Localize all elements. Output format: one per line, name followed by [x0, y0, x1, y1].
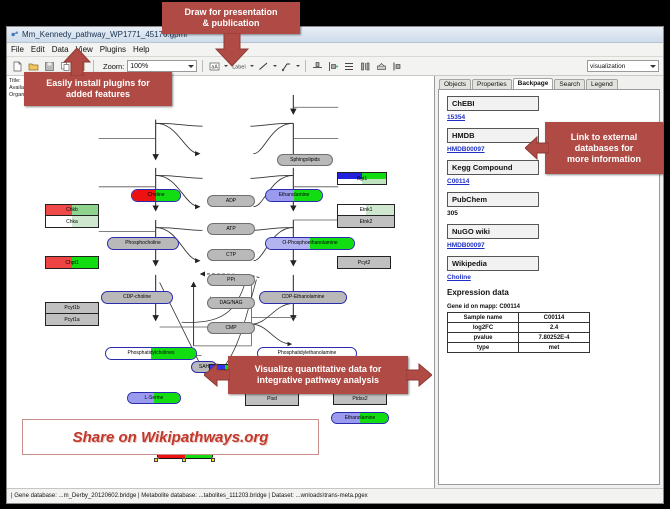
tab-legend[interactable]: Legend [586, 79, 618, 89]
callout-plugins-line1: Easily install plugins for [46, 78, 150, 89]
expr-value: 7.80252E-4 [519, 333, 590, 343]
callout-draw-line2: & publication [203, 18, 260, 29]
node-label: Phosphatidylcholines [128, 351, 175, 356]
status-text: | Gene database: ...m_Derby_20120602.bri… [11, 493, 368, 499]
node-label: DAG/NAG [219, 301, 242, 306]
gene-label: Pcyt1a [64, 317, 79, 323]
chevron-down-icon-6 [650, 65, 656, 68]
menu-item-edit[interactable]: Edit [31, 45, 45, 54]
tab-backpage[interactable]: Backpage [513, 78, 554, 89]
node-o-phosphoethanolamine[interactable]: O-Phosphoethanolamine [265, 237, 355, 250]
node-choline[interactable]: Choline [131, 189, 181, 202]
callout-plugins: Easily install plugins for added feature… [24, 72, 172, 106]
db-link-nugo-wiki[interactable]: HMDB00097 [447, 242, 659, 249]
status-bar: | Gene database: ...m_Derby_20120602.bri… [7, 488, 663, 503]
menu-item-help[interactable]: Help [133, 45, 149, 54]
pathway-info: Title: Availa Organ [9, 78, 24, 99]
info-available: Availa [9, 85, 24, 92]
expr-key: Sample name [448, 313, 519, 323]
resize-handle-s[interactable] [182, 458, 186, 462]
callout-link: Link to external databases for more info… [545, 122, 663, 174]
arrow-shape-icon[interactable] [280, 60, 293, 73]
node-label: CDP-Ethanolamine [282, 295, 325, 300]
callout-link-line3: more information [567, 154, 641, 165]
resize-handle-sw[interactable] [154, 458, 158, 462]
menu-bar: File Edit Data View Plugins Help [7, 43, 663, 57]
node-ctp[interactable]: CTP [207, 249, 255, 261]
chevron-down-icon-5[interactable] [296, 65, 300, 67]
callout-link-line1: Link to external [571, 132, 638, 143]
callout-link-arrow [525, 136, 549, 160]
callout-link-line2: databases for [575, 143, 634, 154]
callout-visualize-arrow-right [406, 363, 432, 387]
node-sphingolipids[interactable]: Sphingolipids [277, 154, 333, 166]
node-phosphocholine[interactable]: Phosphocholine [107, 237, 179, 250]
callout-draw-line1: Draw for presentation [184, 7, 277, 18]
db-link-chebi[interactable]: 15354 [447, 114, 659, 121]
align-icon[interactable] [311, 60, 324, 73]
chevron-down-icon-4[interactable] [273, 65, 277, 67]
app-icon [10, 30, 19, 39]
callout-draw-arrow [215, 33, 249, 67]
gene-label: Etnk1 [360, 207, 373, 213]
node-label: L-Serine [145, 396, 164, 401]
open-icon[interactable] [27, 60, 40, 73]
node-label: ATP [226, 227, 235, 232]
node-atp[interactable]: ATP [207, 223, 255, 235]
info-organism: Organ [9, 92, 24, 99]
new-icon[interactable] [11, 60, 24, 73]
toolbar-divider [93, 60, 94, 72]
gene-pisd[interactable]: Pisd [245, 392, 299, 406]
gene-etnk[interactable]: Etnk1 Etnk2 [337, 204, 395, 228]
zoom-label: Zoom: [103, 62, 124, 71]
node-label: Ethanolamine [345, 416, 376, 421]
spacing-icon[interactable] [359, 60, 372, 73]
resize-handle-se[interactable] [211, 458, 215, 462]
callout-visualize-line1: Visualize quantitative data for [255, 364, 382, 375]
node-phosphatidylcholines[interactable]: Phosphatidylcholines [105, 347, 197, 360]
node-adp[interactable]: ADP [207, 195, 255, 207]
node-label: Ethanolamine [279, 193, 310, 198]
callout-visualize: Visualize quantitative data for integrat… [228, 356, 408, 394]
expr-value: C00114 [519, 313, 590, 323]
node-label: CMP [225, 326, 236, 331]
window-titlebar: Mm_Kennedy_pathway_WP1771_45176.gpml [7, 27, 663, 43]
callout-plugins-line2: added features [66, 89, 130, 100]
share-banner: Share on Wikipathways.org [22, 419, 319, 455]
tab-search[interactable]: Search [554, 79, 585, 89]
chevron-down-icon [188, 65, 194, 68]
save-icon[interactable] [43, 60, 56, 73]
gene-label: Pisd [267, 396, 277, 402]
node-label: CDP-choline [123, 295, 151, 300]
gene-label: Chka [66, 219, 78, 225]
zoom-value: 100% [130, 63, 148, 70]
toolbar-divider-2 [202, 60, 203, 72]
db-header-pubchem: PubChem [447, 192, 539, 207]
db-value-pubchem: 305 [447, 210, 659, 217]
tab-objects[interactable]: Objects [439, 79, 471, 89]
db-header-wikipedia: Wikipedia [447, 256, 539, 271]
side-panel-tabs: Objects Properties Backpage Search Legen… [435, 76, 663, 89]
db-header-nugo-wiki: NuGO wiki [447, 224, 539, 239]
gene-bgt1[interactable]: Bgt1 [337, 172, 387, 185]
expr-value: met [519, 343, 590, 353]
group-icon[interactable] [391, 60, 404, 73]
db-header-chebi: ChEBI [447, 96, 539, 111]
node-cmp[interactable]: CMP [207, 322, 255, 334]
node-cdp-ethanolamine[interactable]: CDP-Ethanolamine [259, 291, 347, 304]
menu-item-file[interactable]: File [11, 45, 24, 54]
distribute-icon[interactable] [327, 60, 340, 73]
node-ppi[interactable]: PPi [207, 274, 255, 286]
node-label: O-Phosphoethanolamine [282, 241, 337, 246]
callout-visualize-arrow [204, 363, 230, 387]
expression-data-heading: Expression data [447, 288, 659, 297]
line-icon[interactable] [257, 60, 270, 73]
stack-icon[interactable] [343, 60, 356, 73]
expr-key: pvalue [448, 333, 519, 343]
node-dag-nag[interactable]: DAG/NAG [207, 297, 255, 309]
menu-item-plugins[interactable]: Plugins [100, 45, 126, 54]
gene-label: Etnk2 [360, 219, 373, 225]
gene-label: Ptdss2 [352, 396, 367, 402]
node-ethanolamine-2[interactable]: Ethanolamine [331, 412, 389, 424]
table-row: pvalue 7.80252E-4 [448, 333, 590, 343]
callout-visualize-line2: integrative pathway analysis [257, 375, 379, 386]
screenshot-root: Mm_Kennedy_pathway_WP1771_45176.gpml Fil… [0, 0, 670, 509]
tab-properties[interactable]: Properties [472, 79, 512, 89]
table-row: Sample name C00114 [448, 313, 590, 323]
gene-pcyt1[interactable]: Pcyt1b Pcyt1a [45, 302, 99, 326]
zoom-combobox[interactable]: 100% [127, 60, 197, 72]
gene-pcyt2[interactable]: Pcyt2 [337, 256, 391, 269]
gene-id-on-mapp: Gene id on mapp: C00114 [447, 304, 659, 310]
node-ethanolamine[interactable]: Ethanolamine [265, 189, 323, 202]
table-row: log2FC 2.4 [448, 323, 590, 333]
gene-label: Chkb [66, 207, 78, 213]
visualization-combobox[interactable]: visualization [587, 60, 659, 72]
order-icon[interactable] [375, 60, 388, 73]
share-text: Share on Wikipathways.org [73, 429, 269, 446]
node-label: PPi [227, 278, 235, 283]
toolbar-divider-3 [305, 60, 306, 72]
db-link-kegg-compound[interactable]: C00114 [447, 178, 659, 185]
node-label: Phosphocholine [125, 241, 161, 246]
node-label: Choline [148, 193, 165, 198]
node-label: Sphingolipids [290, 158, 320, 163]
gene-chpt1[interactable]: Chpt1 [45, 256, 99, 269]
db-link-wikipedia[interactable]: Choline [447, 274, 659, 281]
node-label: ADP [226, 199, 236, 204]
visualization-value: visualization [590, 63, 625, 70]
node-cdp-choline[interactable]: CDP-choline [101, 291, 173, 304]
table-row: type met [448, 343, 590, 353]
node-l-serine-left[interactable]: L-Serine [127, 392, 181, 404]
gene-label: Bgt1 [357, 176, 367, 182]
info-title: Title: [9, 78, 24, 85]
gene-label: Pcyt1b [64, 305, 79, 311]
gene-label: Pcyt2 [358, 260, 371, 266]
callout-draw: Draw for presentation & publication [162, 2, 300, 34]
expr-key: log2FC [448, 323, 519, 333]
expr-key: type [448, 343, 519, 353]
db-header-kegg-compound: Kegg Compound [447, 160, 539, 175]
node-label: CTP [226, 253, 236, 258]
gene-label: Chpt1 [65, 260, 78, 266]
chevron-down-icon-3[interactable] [250, 65, 254, 67]
gene-chkb-chka[interactable]: Chkb Chka [45, 204, 99, 228]
expression-table: Sample name C00114 log2FC 2.4 pvalue 7.8… [447, 312, 590, 353]
callout-plugins-arrow [63, 48, 91, 76]
expr-value: 2.4 [519, 323, 590, 333]
